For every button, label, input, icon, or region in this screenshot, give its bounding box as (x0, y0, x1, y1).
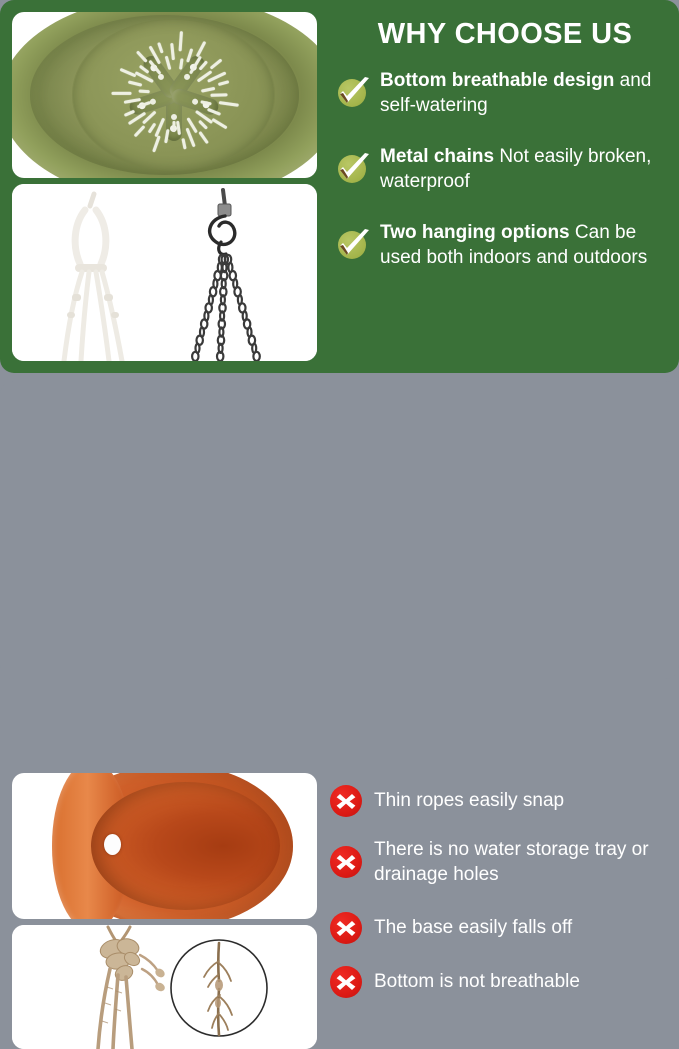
pot-drainage-slot (138, 89, 149, 93)
frayed-twine-photo (12, 925, 317, 1049)
green-pot-image (12, 12, 317, 178)
hanging-options-photo (12, 184, 317, 361)
pro-bullet-item-1: Bottom breathable design and self-wateri… (336, 68, 674, 118)
pot-drainage-slot (181, 138, 186, 149)
pot-drainage-slot (201, 87, 215, 93)
con-bullet-text-2: There is no water storage tray or draina… (374, 837, 674, 888)
x-circle-icon (330, 912, 362, 944)
pro-bullet-text-3: Two hanging options Can be used both ind… (380, 220, 674, 270)
pot-drainage-slot (178, 31, 182, 51)
pro-bullet-item-3: Two hanging options Can be used both ind… (336, 220, 674, 270)
pro-bullet-list: Bottom breathable design and self-wateri… (336, 68, 674, 288)
con-bullet-text-1: Thin ropes easily snap (374, 788, 564, 813)
pot-drainage-slot (209, 58, 222, 69)
con-bullet-list: Thin ropes easily snap There is no water… (330, 785, 674, 1018)
page-title: WHY CHOOSE US (340, 18, 670, 51)
pro-panel: WHY CHOOSE US Bottom breathable design a… (0, 0, 679, 373)
hangers-svg (12, 184, 317, 361)
x-circle-icon (330, 846, 362, 878)
pot-drainage-slot (211, 118, 227, 129)
x-circle-icon (330, 966, 362, 998)
con-bullet-item-2: There is no water storage tray or draina… (330, 837, 674, 888)
pot-drainage-slot (123, 110, 134, 117)
infographic-root: WHY CHOOSE US Bottom breathable design a… (0, 0, 679, 679)
twine-image (12, 925, 317, 1049)
pot-drainage-slot (152, 135, 161, 152)
green-pot-bottom-drainage-photo (12, 12, 317, 178)
check-circle-icon (336, 76, 370, 110)
con-bullet-text-3: The base easily falls off (374, 915, 572, 940)
pot-drainage-slot (147, 123, 156, 134)
con-panel: Thin ropes easily snap There is no water… (0, 381, 679, 679)
terracotta-single-hole (104, 834, 121, 855)
pro-bullet-text-1: Bottom breathable design and self-wateri… (380, 68, 674, 118)
pot-inner-basin (73, 20, 274, 169)
pot-drainage-slot (198, 131, 209, 144)
pot-drainage-slot (172, 121, 175, 132)
pot-drainage-slot (218, 80, 229, 86)
pro-bullet-text-2: Metal chains Not easily broken, waterpro… (380, 144, 674, 194)
terracotta-pot-photo (12, 773, 317, 919)
pot-drainage-slot (210, 93, 227, 97)
pot-drainage-slot (157, 42, 163, 53)
pot-drainage-slot (119, 68, 136, 78)
pro-bullet-item-2: Metal chains Not easily broken, waterpro… (336, 144, 674, 194)
con-bullet-text-4: Bottom is not breathable (374, 969, 580, 994)
con-bullet-item-4: Bottom is not breathable (330, 966, 674, 998)
twine-svg (12, 925, 317, 1049)
pot-drainage-slot (170, 43, 175, 60)
pot-drainage-slot (133, 125, 145, 137)
terracotta-image (12, 773, 317, 919)
pot-drainage-slot (111, 92, 131, 95)
pot-drainage-slot (164, 129, 169, 143)
pot-drainage-slot (154, 118, 165, 138)
pot-drainage-slot (198, 120, 208, 130)
check-circle-icon (336, 228, 370, 262)
check-circle-icon (336, 152, 370, 186)
con-bullet-item-1: Thin ropes easily snap (330, 785, 674, 817)
pot-drainage-slot (195, 41, 206, 57)
pot-drainage-slot (128, 80, 142, 86)
x-circle-icon (330, 785, 362, 817)
pot-drainage-slot (164, 56, 171, 70)
pot-drainage-slot (218, 101, 238, 107)
pot-drainage-slot (136, 50, 148, 62)
con-bullet-item-3: The base easily falls off (330, 912, 674, 944)
hangers-image (12, 184, 317, 361)
